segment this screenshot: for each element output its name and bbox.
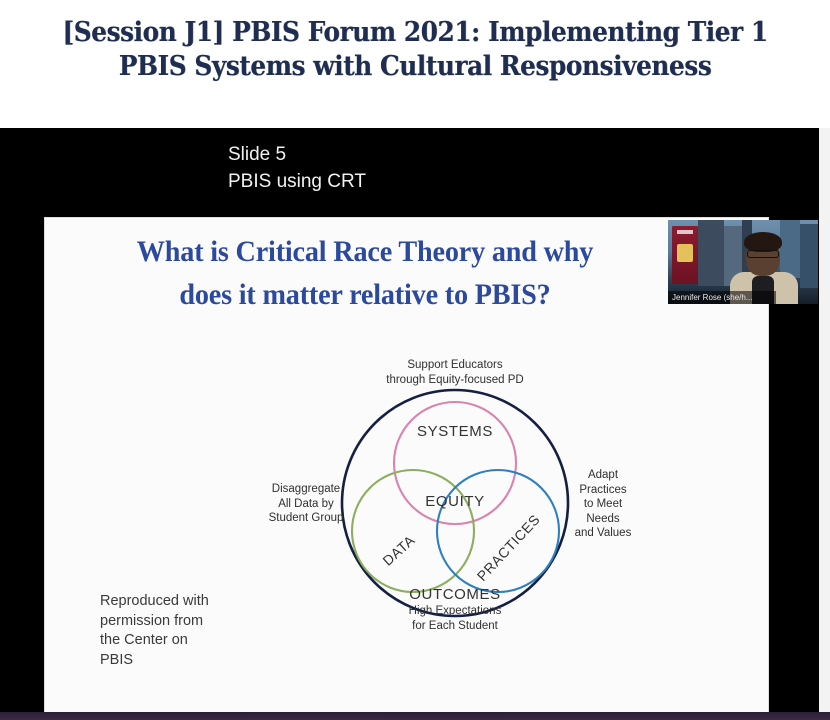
slide-heading: What is Critical Race Theory and why doe…	[64, 230, 666, 316]
participant-name-label: Jennifer Rose (she/h...	[668, 291, 776, 304]
label-systems: SYSTEMS	[417, 423, 493, 440]
slide-number-label: Slide 5 PBIS using CRT	[228, 141, 366, 195]
label-outcomes: OUTCOMES	[409, 586, 500, 603]
caption-adapt-practices: Adapt Practices to Meet Needs and Values	[548, 468, 658, 541]
loyola-banner	[672, 226, 698, 284]
caption-support-educators: Support Educators through Equity-focused…	[345, 358, 565, 387]
caption-high-expectations: High Expectations for Each Student	[350, 604, 560, 633]
participant-video-tile[interactable]: Jennifer Rose (she/h...	[668, 220, 818, 304]
participant-hair	[744, 232, 782, 252]
bottom-chrome-strip	[0, 712, 830, 720]
caption-disaggregate-data: Disaggregate All Data by Student Group	[241, 482, 371, 526]
label-equity: EQUITY	[425, 493, 484, 510]
label-practices: PRACTICES	[474, 511, 543, 584]
glasses-icon	[747, 250, 779, 258]
building-shape	[698, 220, 724, 286]
banner-wordmark	[677, 230, 693, 234]
session-banner: [Session J1] PBIS Forum 2021: Implementi…	[0, 0, 830, 128]
building-shape	[800, 224, 818, 288]
stage-right-edge	[819, 128, 830, 712]
building-shape	[780, 220, 800, 278]
screen-capture: [Session J1] PBIS Forum 2021: Implementi…	[0, 0, 830, 720]
slide-content: What is Critical Race Theory and why doe…	[45, 218, 768, 712]
session-title: [Session J1] PBIS Forum 2021: Implementi…	[33, 16, 797, 84]
circle-practices	[437, 470, 559, 592]
label-data: DATA	[379, 532, 418, 569]
attribution-text: Reproduced with permission from the Cent…	[100, 592, 280, 670]
